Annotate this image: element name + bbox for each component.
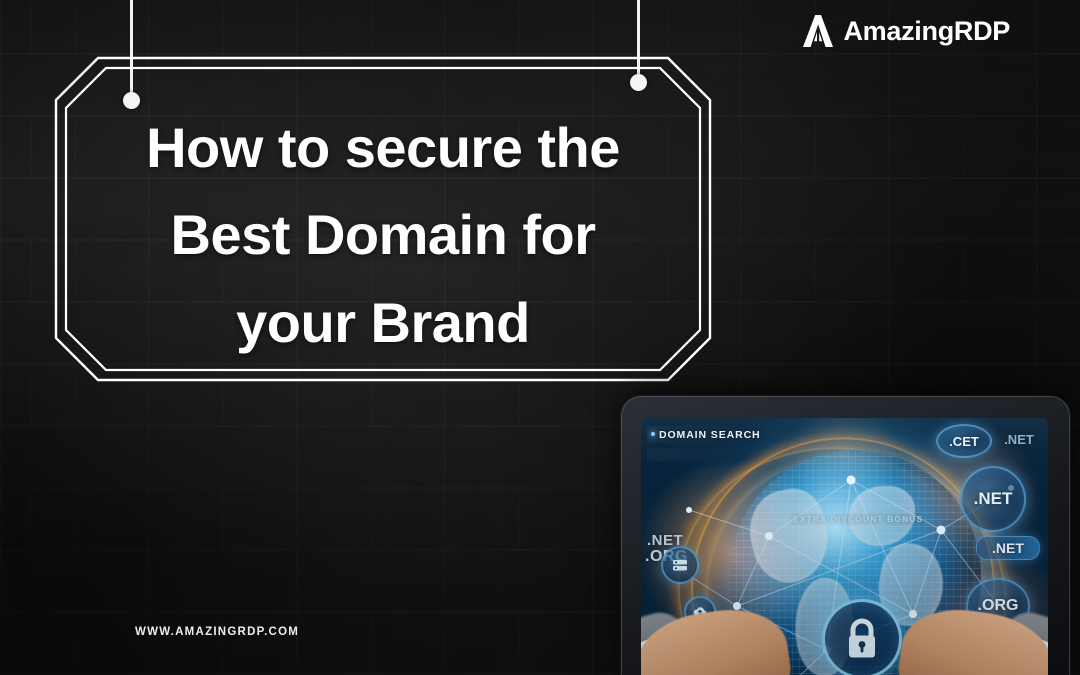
- tablet-device: DOMAIN SEARCH EXTRA DISCOUNT BONUS .NET …: [621, 396, 1070, 675]
- headline-line-2: Best Domain for: [60, 191, 706, 278]
- hands-holding-tablet: [641, 594, 1048, 675]
- search-indicator-icon: [651, 432, 655, 436]
- amazingrdp-a-mark-icon: [802, 14, 834, 48]
- tld-bubble-net-ghost: .NET: [994, 426, 1044, 452]
- poster-canvas: How to secure the Best Domain for your B…: [0, 0, 1080, 675]
- headline-line-1: How to secure the: [60, 104, 706, 191]
- server-icon: [661, 546, 699, 584]
- tablet-screen[interactable]: DOMAIN SEARCH EXTRA DISCOUNT BONUS .NET …: [641, 418, 1048, 675]
- tld-bubble-cet[interactable]: .CET: [936, 424, 992, 458]
- domain-search-bar-secondary: [647, 448, 759, 461]
- headline-line-3: your Brand: [60, 279, 706, 366]
- tld-bubble-net-large[interactable]: .NET: [960, 466, 1026, 532]
- domain-search-label: DOMAIN SEARCH: [659, 429, 761, 441]
- tld-pill-net[interactable]: .NET: [976, 536, 1040, 560]
- brand-name: AmazingRDP: [843, 16, 1010, 47]
- site-url[interactable]: WWW.AMAZINGRDP.COM: [135, 626, 299, 638]
- discount-bonus-label: EXTRA DISCOUNT BONUS: [793, 514, 923, 524]
- brand-logo[interactable]: AmazingRDP: [802, 14, 1010, 48]
- page-title: How to secure the Best Domain for your B…: [60, 104, 706, 366]
